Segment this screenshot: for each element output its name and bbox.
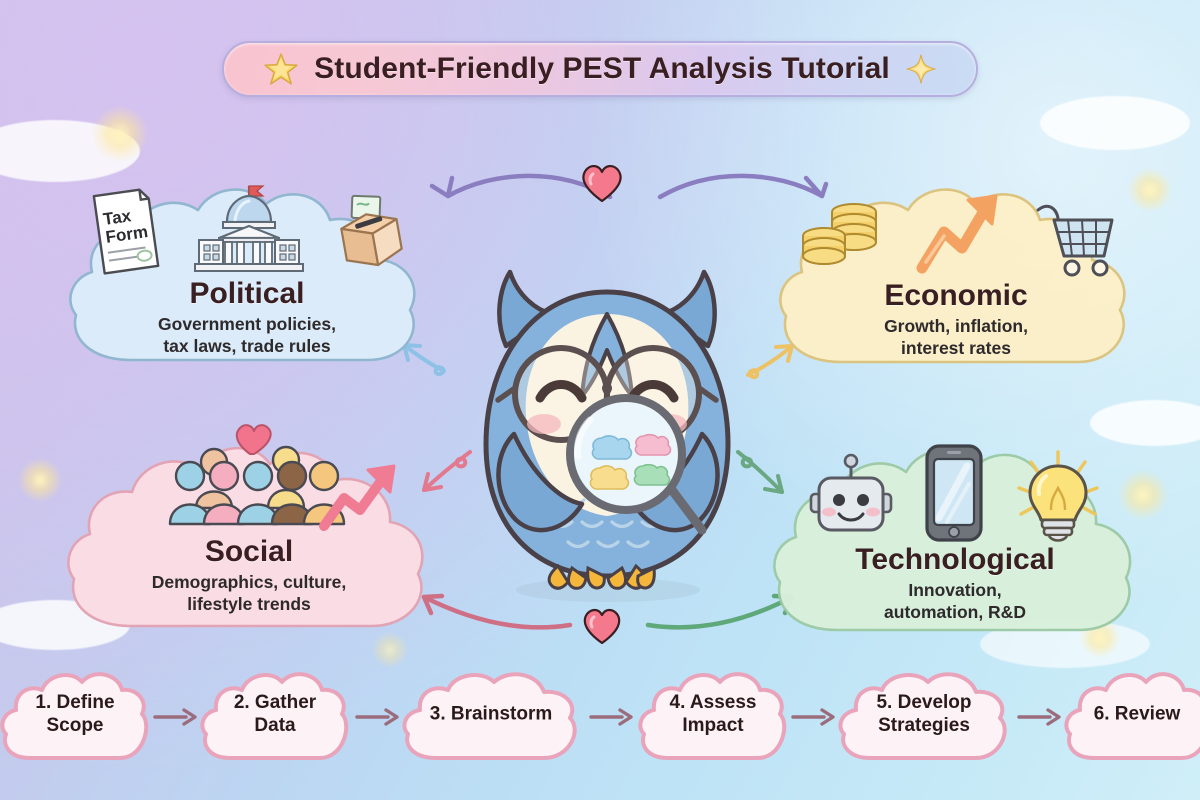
process-steps: 1. Define Scope 2. Gather Data 3. Brains… bbox=[0, 660, 1200, 800]
step-label: 1. Define Scope bbox=[0, 692, 150, 738]
desc-line-2: lifestyle trends bbox=[58, 593, 440, 615]
owl-mascot bbox=[440, 248, 770, 608]
sparkle-glow bbox=[18, 458, 62, 502]
quadrant-description: Government policies, tax laws, trade rul… bbox=[62, 313, 432, 358]
step-item[interactable]: 4. Assess Impact bbox=[638, 660, 788, 770]
desc-line-2: automation, R&D bbox=[762, 601, 1148, 623]
step-label-line-1: 5. Develop bbox=[844, 692, 1004, 715]
desc-line-2: tax laws, trade rules bbox=[62, 335, 432, 357]
government-building-icon bbox=[183, 182, 315, 278]
step-arrow-icon bbox=[354, 706, 400, 728]
quadrant-political[interactable]: Tax Form bbox=[62, 160, 432, 375]
quadrant-title: Social bbox=[58, 536, 440, 568]
step-arrow-icon bbox=[1016, 706, 1062, 728]
quadrant-title: Economic bbox=[770, 280, 1142, 312]
growth-arrow-icon bbox=[914, 188, 1006, 280]
page-title-banner: Student-Friendly PEST Analysis Tutorial bbox=[222, 41, 978, 97]
page-title: Student-Friendly PEST Analysis Tutorial bbox=[314, 52, 890, 86]
quadrant-description: Growth, inflation, interest rates bbox=[770, 315, 1142, 360]
star-icon bbox=[264, 52, 298, 86]
step-item[interactable]: 1. Define Scope bbox=[0, 660, 150, 770]
step-label-line-2: Scope bbox=[6, 715, 144, 738]
shopping-cart-icon bbox=[1032, 194, 1116, 280]
sparkle-glow bbox=[92, 106, 148, 162]
desc-line-1: Government policies, bbox=[62, 313, 432, 335]
step-item[interactable]: 3. Brainstorm bbox=[402, 660, 580, 770]
quadrant-description: Demographics, culture, lifestyle trends bbox=[58, 571, 440, 616]
step-item[interactable]: 5. Develop Strategies bbox=[838, 660, 1010, 770]
step-label: 2. Gather Data bbox=[200, 692, 350, 738]
ballot-box-icon bbox=[333, 194, 407, 278]
step-label: 6. Review bbox=[1064, 704, 1200, 727]
robot-icon bbox=[805, 454, 897, 546]
step-label: 4. Assess Impact bbox=[638, 692, 788, 738]
tax-form-icon: Tax Form bbox=[87, 184, 165, 278]
smartphone-icon bbox=[921, 442, 987, 546]
quadrant-social[interactable]: Social Demographics, culture, lifestyle … bbox=[58, 418, 440, 640]
lightbulb-icon bbox=[1011, 448, 1105, 546]
quadrant-technological[interactable]: Technological Innovation, automation, R&… bbox=[762, 420, 1148, 644]
heart-icon bbox=[580, 604, 624, 646]
desc-line-1: Demographics, culture, bbox=[58, 571, 440, 593]
step-label: 3. Brainstorm bbox=[402, 704, 580, 727]
quadrant-economic[interactable]: Economic Growth, inflation, interest rat… bbox=[770, 158, 1142, 376]
quadrant-title: Technological bbox=[762, 544, 1148, 576]
step-label-line-1: 6. Review bbox=[1070, 704, 1200, 727]
quadrant-description: Innovation, automation, R&D bbox=[762, 579, 1148, 624]
coins-icon bbox=[796, 190, 888, 280]
sparkle-icon bbox=[906, 54, 936, 84]
quadrant-title: Political bbox=[62, 278, 432, 310]
step-item[interactable]: 6. Review bbox=[1064, 660, 1200, 770]
step-arrow-icon bbox=[588, 706, 634, 728]
step-arrow-icon bbox=[152, 706, 198, 728]
heart-icon bbox=[578, 160, 626, 204]
desc-line-2: interest rates bbox=[770, 337, 1142, 359]
step-label-line-1: 1. Define bbox=[6, 692, 144, 715]
step-label-line-2: Data bbox=[206, 715, 344, 738]
step-label-line-1: 2. Gather bbox=[206, 692, 344, 715]
step-arrow-icon bbox=[790, 706, 836, 728]
trend-arrow-icon bbox=[316, 460, 404, 536]
desc-line-1: Innovation, bbox=[762, 579, 1148, 601]
step-label-line-2: Impact bbox=[644, 715, 782, 738]
step-label: 5. Develop Strategies bbox=[838, 692, 1010, 738]
arc-arrowhead-left bbox=[432, 178, 452, 196]
desc-line-1: Growth, inflation, bbox=[770, 315, 1142, 337]
owl-blush-left bbox=[527, 414, 561, 434]
step-item[interactable]: 2. Gather Data bbox=[200, 660, 350, 770]
step-label-line-1: 4. Assess bbox=[644, 692, 782, 715]
background-cloud bbox=[1040, 96, 1190, 150]
step-label-line-1: 3. Brainstorm bbox=[408, 704, 574, 727]
step-label-line-2: Strategies bbox=[844, 715, 1004, 738]
